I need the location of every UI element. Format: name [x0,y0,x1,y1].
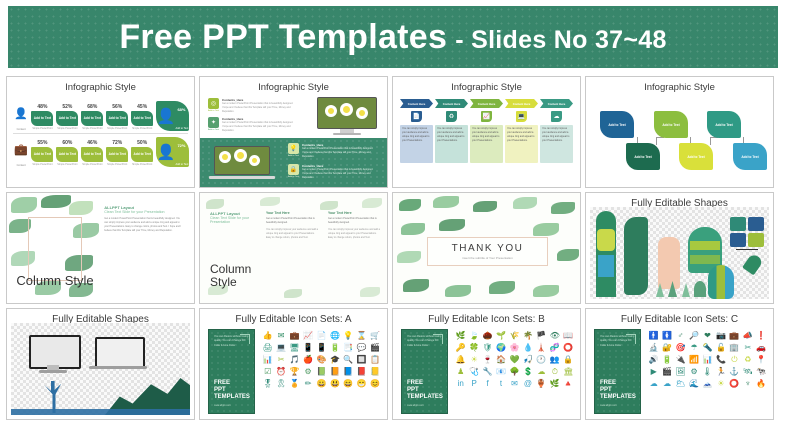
server-rack-icon [730,233,746,247]
percent-label: Add to Text [134,152,151,156]
slide-thumbnail-7[interactable]: THANK YOU insert the subtitle of Your Pr… [392,192,581,304]
card-corner-decoration [433,334,443,344]
icon-cell: 🍎 [302,355,313,364]
banner-sub-text: - Slides No 37~48 [455,26,666,54]
percent-value: 68% [81,104,103,110]
percent-highlight: 👤 68% Add to Text [156,101,189,131]
icon-cell: 🔎 [688,331,699,340]
card-free-text: FREE PPT TEMPLATES [214,380,250,401]
lock-icon: 🔒 [288,164,299,175]
item-body: Get a modern PowerPoint Presentation tha… [222,102,294,114]
left-column: ALLPPT Layout Clean Text Slide for your … [210,211,256,224]
text-panel: ALLPPT Layout Clean Text Slide for your … [104,205,183,233]
icon-cell: t [495,379,506,388]
text-body: Get a modern PowerPoint Presentation tha… [104,217,183,233]
person-glyph: 👤 [157,109,176,124]
chevron-step: Content Here ♻ You can simply impress yo… [435,99,468,163]
slide-thumbnail-12[interactable]: Fully Editable Icon Sets: C You can Resi… [585,308,774,420]
leaf-shape-3: Add to Text [654,111,688,138]
icon-cell: 🔓 [715,343,726,352]
icon-cell: 🏠 [495,355,506,364]
percent-sub: Simple PowerPoint [56,127,78,131]
head-band-2 [690,255,720,264]
card-free-text: FREE PPT TEMPLATES [600,380,636,401]
icon-cell: 💲 [522,367,533,376]
percent-label: Add to Text [134,116,151,120]
card-corner-decoration [240,334,250,344]
icon-cell: ⭕ [729,379,740,388]
icon-cell: ♂ [675,331,686,340]
icon-cell: 💬 [356,343,367,352]
icon-cell: ✉ [509,379,520,388]
icon-cell: 🕐 [536,355,547,364]
icon-cell: 📕 [356,367,367,376]
column-heading: Your Text Here [328,211,380,215]
icon-cell: 🌰 [482,331,493,340]
icon-cell: 🏅 [289,379,300,388]
thank-you-title: THANK YOU [452,243,524,254]
icon-cell: ⚓ [729,367,740,376]
step-label: Content Here [478,102,496,106]
icon-cell: 📷 [715,331,726,340]
icon-cell: 🔲 [356,355,367,364]
divider [13,133,188,134]
icon-cell: ⏻ [729,355,740,364]
icon-cell: 🎬 [661,367,672,376]
icon-grid-b: 🌿🍃🌰🌱🌾🌴🏴👁📖🔑🍀🛡🌍🌸💧🗼🧬⭕🔔☀🍷🏠💚🎣🕐👥🔒♟🩺🔧📧🌳💲☁⏱🏛inPf… [455,331,574,388]
icon-cell: 📧 [495,367,506,376]
icon-cell: 📙 [329,367,340,376]
free-ppt-card: You can Resize without losing quality Yo… [208,329,255,414]
decorative-frame [28,217,82,281]
icon-cell: 🔑 [455,343,466,352]
icon-cell: 🍃 [468,331,479,340]
chevron-step: Content Here ☁ You can simply impress yo… [540,99,573,163]
percent-sub: Simple PowerPoint [31,127,53,131]
chevron-process: Content Here 📄 You can simply impress yo… [400,99,573,163]
icon-cell: ❤ [702,331,713,340]
icon-cell: 🔋 [661,355,672,364]
icon-cell: 📘 [343,367,354,376]
hot-air-balloon-icon [708,265,734,299]
icon-cell: ⭕ [563,343,574,352]
icon-cell: ☂ [688,343,699,352]
icon-cell: ✏ [302,379,313,388]
icon-cell: 🌍 [495,343,506,352]
icon-cell: 🍀 [468,343,479,352]
icon-grid-a: 👍✉💼📈📄🌐💡⌛🛒🖨💻🖥📱📱🔋📑💬🎬📊✂🎵🍎🎨🎓🔍🔲📋☑⏰🏆⚙📗📙📘📕📒🎖🎗🏅✏… [262,331,381,388]
icon-cell: 🛡 [482,343,493,352]
slide-2-bottom-panel: 💡 Add to Text Contents_Here Get a modern… [200,138,387,188]
server-rack-icon [748,217,764,231]
woman-legs-shape [598,255,614,277]
top-item-2: ✦ Add to Text Contents_Here Get a modern… [208,117,294,133]
step-body: You can simply impress your audience and… [437,127,466,142]
step-body: You can simply impress your audience and… [542,127,571,142]
right-column: Your Text Here Get a modern PowerPoint P… [328,211,380,240]
leaf-label: Add to Text [662,123,679,127]
top-item-1: ◎ Add to Text Contents_Here Get a modern… [208,98,294,114]
recycle-icon: ♻ [446,111,457,122]
icon-cell: 🏃 [715,367,726,376]
icon-cell: 👥 [549,355,560,364]
icon-cell: 📈 [302,331,313,340]
icon-cell: 💧 [522,343,533,352]
icon-cell: 🎗 [275,379,286,388]
slide-thumbnail-8[interactable]: Fully Editable Shapes [585,192,774,304]
icon-cell: 👁 [549,331,560,340]
column-style-text: Column Style [210,263,256,288]
percent-cell: 68% Add to Text Simple PowerPoint [81,104,103,131]
percent-cell: 52% Add to Text Simple PowerPoint [56,104,78,131]
icon-cell: ✉ [275,331,286,340]
icon-cell: 💼 [729,331,740,340]
chevron-step: Content Here 📈 You can simply impress yo… [470,99,503,163]
icon-cell: ❗ [756,331,767,340]
icon-cell: 📗 [316,367,327,376]
leaf-label: Add to Text [715,123,732,127]
icon-cell: 🖼 [675,367,686,376]
icon-cell: 🚺 [661,331,672,340]
percent-cell: 56% Add to Text Simple PowerPoint [106,104,128,131]
icon-cell: in [455,379,466,388]
slide-thumbnail-11[interactable]: Fully Editable Icon Sets: B You can Resi… [392,308,581,420]
icon-cell: 🖥 [289,343,300,352]
percent-highlight: 👤 72% Add to Text [156,137,189,167]
card-url-text: www.allppt.com [407,404,424,407]
leaf-label: Add to Text [634,155,651,159]
step-label: Content Here [513,102,531,106]
percent-cell: 46% Add to Text Simple PowerPoint [81,140,103,167]
bare-tree-icon [39,379,69,413]
icon-cell: 🖨 [262,343,273,352]
icon-cell: ♆ [742,379,753,388]
botanical-frame-panel: Column Style [7,193,101,303]
icon-cell: ✂ [742,343,753,352]
percent-cell: 48% Add to Text Simple PowerPoint [31,104,53,131]
percent-value: 55% [31,140,53,146]
item-body: Get a modern PowerPoint Presentation tha… [302,168,374,180]
slide-1-title: Infographic Style [7,82,194,93]
percent-sub: Simple PowerPoint [106,127,128,131]
icon-cell: @ [522,379,533,388]
icon-cell: 💡 [343,331,354,340]
step-label: Content Here [548,102,566,106]
head-band-1 [690,241,720,250]
percent-cell: 50% Add to Text Simple PowerPoint [131,140,153,167]
highlight-percent: 68% [177,107,185,112]
icon-cell: 🚹 [648,331,659,340]
icon-cell: ☀ [468,355,479,364]
percent-value: 60% [56,140,78,146]
icon-cell: 📄 [316,331,327,340]
icon-cell: 📊 [262,355,273,364]
icon-cell: 💻 [275,343,286,352]
icon-cell: 😄 [343,379,354,388]
percent-cell: 45% Add to Text Simple PowerPoint [131,104,153,131]
slide-thumbnail-3[interactable]: Infographic Style Content Here 📄 You can… [392,76,581,188]
icon-cell: 🌸 [509,343,520,352]
icon-cell: 🗼 [536,343,547,352]
bottom-item-1: 💡 Add to Text Contents_Here Get a modern… [288,143,374,159]
free-ppt-card: You can Resize without losing quality Yo… [401,329,448,414]
percent-label: Add to Text [59,116,76,120]
slide-3-title: Infographic Style [393,82,580,93]
icon-cell: ⏱ [549,367,560,376]
icon-cell: f [482,379,493,388]
icon-cell: ⌛ [356,331,367,340]
icon-cell: ♻ [742,355,753,364]
monitor-icon: 💻 [516,111,527,122]
percent-sub: Simple PowerPoint [131,163,153,167]
target-icon: ◎ [208,98,219,109]
icon-cell: 🔒 [563,355,574,364]
leaf-label: Add to Text [608,123,625,127]
icon-cell: 😀 [316,379,327,388]
transparency-canvas [590,207,769,299]
icon-cell: ⏰ [275,367,286,376]
document-icon: 📄 [411,111,422,122]
icon-cell: 💚 [509,355,520,364]
slide-thumbnail-1[interactable]: Infographic Style 👤 Content 48% Add to T… [6,76,195,188]
bottom-item-2: 🔒 Add to Text Contents_Here Get a modern… [288,164,374,180]
leaf-label: Add to Text [741,155,758,159]
percent-row-1: 👤 Content 48% Add to Text Simple PowerPo… [13,101,189,131]
slide-thumbnail-9[interactable]: Fully Editable Shapes [6,308,195,420]
column-sub: Get a modern PowerPoint Presentation tha… [328,217,380,225]
icon-label: Add to Text [208,110,219,112]
percent-cell: 72% Add to Text Simple PowerPoint [106,140,128,167]
icon-cell: 🩺 [468,367,479,376]
laptop-icon [95,337,145,369]
percent-cell: 60% Add to Text Simple PowerPoint [56,140,78,167]
highlight-label: Add to Text [175,163,188,166]
icon-cell: 📍 [756,355,767,364]
icon-cell: 🔊 [648,355,659,364]
chevron-step: Content Here 📄 You can simply impress yo… [400,99,433,163]
icon-cell: 🧬 [549,343,560,352]
lightbulb-icon: 💡 [288,143,299,154]
icon-cell: 🔥 [756,379,767,388]
slide-12-title: Fully Editable Icon Sets: C [586,314,773,325]
card-free-text: FREE PPT TEMPLATES [407,380,443,401]
percent-label: Add to Text [59,152,76,156]
icon-cell: 🗻 [702,379,713,388]
icon-cell: 📞 [715,355,726,364]
slide-2-top-panel: ◎ Add to Text Contents_Here Get a modern… [200,94,387,138]
percent-value: 72% [106,140,128,146]
step-label: Content Here [408,102,426,106]
column-heading: Your Text Here [266,211,318,215]
icon-cell: 🎨 [316,355,327,364]
percent-cell: 55% Add to Text Simple PowerPoint [31,140,53,167]
grass-icon [11,409,190,415]
percent-label: Add to Text [34,152,51,156]
icon-cell: 📊 [702,355,713,364]
icon-cell: ☁ [648,379,659,388]
chevron-step: Content Here 💻 You can simply impress yo… [505,99,538,163]
thank-you-box: THANK YOU insert the subtitle of Your Pr… [427,237,549,266]
percent-value: 48% [31,104,53,110]
banner-main-text: Free PPT Templates [119,18,447,56]
icon-cell: 📑 [343,343,354,352]
percent-label: Add to Text [84,116,101,120]
icon-cell: 📣 [742,331,753,340]
desktop-monitor-icon [317,97,377,135]
step-label: Content Here [443,102,461,106]
icon-cell: 🔦 [702,343,713,352]
icon-cell: 👍 [262,331,273,340]
icon-label: Add to Text [288,155,299,157]
text-heading-2: Clean Text Slide for your Presentation [210,216,256,224]
icon-cell: 🛒 [370,331,381,340]
tree-icon [682,283,690,297]
icon-cell: ☁ [536,367,547,376]
monitor-base [39,370,67,373]
briefcase-icon: 💼 Content [13,144,29,167]
icon-cell: 📖 [563,331,574,340]
icon-cell: ▶ [648,367,659,376]
column-sub: Get a modern PowerPoint Presentation tha… [266,217,318,225]
step-body: You can simply impress your audience and… [402,127,431,142]
icon-cell: 🛰 [742,367,753,376]
icon-cell: 🏢 [729,343,740,352]
icon-cell: 🌊 [688,379,699,388]
server-rack-icon [748,233,764,247]
icon-cell: 🔺 [563,379,574,388]
percent-label: Add to Text [84,152,101,156]
icon-cell: 🎵 [289,355,300,364]
slide-grid: Infographic Style 👤 Content 48% Add to T… [6,76,782,420]
icon-cell: 🏆 [289,367,300,376]
icon-cell: ✂ [275,355,286,364]
banner-title: Free PPT Templates- Slides No 37~48 [119,18,666,57]
transparency-canvas [11,323,190,415]
text-heading-2: Clean Text Slide for your Presentation [104,210,183,214]
percent-sub: Simple PowerPoint [131,127,153,131]
icon-cell: 🌱 [495,331,506,340]
icon-cell: 🔍 [343,355,354,364]
step-body: You can simply impress your audience and… [472,127,501,142]
icon-cell: 🔐 [661,343,672,352]
icon-label: Add to Text [208,129,219,131]
slide-thumbnail-4[interactable]: Infographic Style Add to Text Add to Tex… [585,76,774,188]
row-2-caption: Content [13,164,29,167]
icon-cell: 🔌 [675,355,686,364]
leaf-shape-5: Add to Text [707,111,741,138]
leaf-shape-2: Add to Text [626,143,660,170]
leaf-label: Add to Text [687,155,704,159]
step-body: You can simply impress your audience and… [507,127,536,142]
percent-label: Add to Text [109,152,126,156]
person-glyph: 👤 [157,145,176,160]
icon-cell: ⚙ [688,367,699,376]
icon-label: Add to Text [288,176,299,178]
icon-cell: 🚗 [756,343,767,352]
card-corner-decoration [626,334,636,344]
icon-cell: 🎖 [262,379,273,388]
leaf-shape-1: Add to Text [600,111,634,138]
column-body: You can simply impress your audience and… [328,228,380,240]
thank-you-subtitle: insert the subtitle of Your Presentation [462,256,513,260]
icon-cell: ☑ [262,367,273,376]
percent-value: 50% [131,140,153,146]
icon-cell: 📶 [688,355,699,364]
slide-thumbnail-5[interactable]: Column Style ALLPPT Layout Clean Text Sl… [6,192,195,304]
slide-thumbnail-10[interactable]: Fully Editable Icon Sets: A You can Resi… [199,308,388,420]
icon-cell: ☁ [661,379,672,388]
tree-icon [694,281,706,297]
icon-cell: ☀ [715,379,726,388]
slide-11-title: Fully Editable Icon Sets: B [393,314,580,325]
percent-value: 45% [131,104,153,110]
icon-cell: 🔬 [648,343,659,352]
percent-sub: Simple PowerPoint [81,163,103,167]
leaf-shape-4: Add to Text [679,143,713,170]
icon-cell: 😊 [370,379,381,388]
column-body: You can simply impress your audience and… [266,228,318,240]
icon-cell: ⚙ [302,367,313,376]
percent-row-2: 💼 Content 55% Add to Text Simple PowerPo… [13,137,189,167]
icon-cell: 📋 [370,355,381,364]
highlight-label: Add to Text [175,127,188,130]
desktop-monitor-icon [29,335,81,369]
icon-cell: 📒 [370,367,381,376]
server-rack-icon [730,217,746,231]
woman-top-shape [597,229,615,251]
slide-2-title: Infographic Style [200,82,387,93]
percent-label: Add to Text [109,116,126,120]
icon-grid-c: 🚹🚺♂🔎❤📷💼📣❗🔬🔐🎯☂🔦🔓🏢✂🚗🔊🔋🔌📶📊📞⏻♻📍▶🎬🖼⚙🌡🏃⚓🛰🐄☁☁🌥🌊… [648,331,767,388]
percent-sub: Simple PowerPoint [81,127,103,131]
icon-cell: 🏺 [536,379,547,388]
laptop-base [89,366,147,369]
icon-cell: 🎬 [370,343,381,352]
slide-thumbnail-6[interactable]: ALLPPT Layout Clean Text Slide for your … [199,192,388,304]
card-url-text: www.allppt.com [600,404,617,407]
icon-cell: 🌡 [702,367,713,376]
laptop-icon [214,146,270,179]
leaf-icon: ✦ [208,117,219,128]
percent-sub: Simple PowerPoint [31,163,53,167]
icon-cell: 🎓 [329,355,340,364]
percent-sub: Simple PowerPoint [106,163,128,167]
icon-cell: 🔔 [455,355,466,364]
icon-cell: 📱 [316,343,327,352]
item-body: Get a modern PowerPoint Presentation tha… [302,147,374,159]
percent-label: Add to Text [34,116,51,120]
slide-thumbnail-2[interactable]: Infographic Style ◎ Add to Text Contents… [199,76,388,188]
percent-value: 46% [81,140,103,146]
cloud-icon: ☁ [551,111,562,122]
icon-cell: P [468,379,479,388]
leaf-shape-6: Add to Text [733,143,767,170]
percent-sub: Simple PowerPoint [56,163,78,167]
highlight-percent: 72% [177,143,185,148]
icon-cell: 🌴 [522,331,533,340]
person-icon: 👤 Content [13,108,29,131]
icon-cell: 🎯 [675,343,686,352]
icon-cell: 🌿 [549,379,560,388]
column-style-heading: Column Style [16,274,93,288]
column-style-text: Column Style [16,273,93,288]
icon-cell: 😁 [356,379,367,388]
icon-cell: 💼 [289,331,300,340]
card-url-text: www.allppt.com [214,404,231,407]
slide-4-title: Infographic Style [586,82,773,93]
icon-cell: 🏛 [563,367,574,376]
header-banner: Free PPT Templates- Slides No 37~48 [8,6,778,68]
